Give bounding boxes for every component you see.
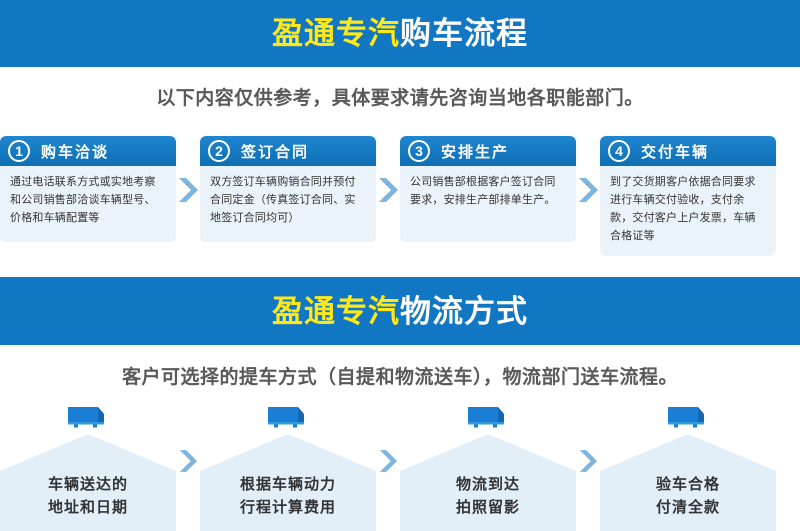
purchase-step-header-2: 2 签订合同 xyxy=(200,136,376,166)
chevron-right-icon xyxy=(378,449,398,473)
step-body-3: 公司销售部根据客户签订合同要求，安排生产部排单生产。 xyxy=(400,164,576,242)
truck-icon xyxy=(464,404,512,432)
brand-name-logistics: 盈通专汽 xyxy=(272,294,400,329)
logistics-step-3[interactable]: 物流到达 拍照留影 xyxy=(400,404,576,531)
logistics-arrow-3-4 xyxy=(576,404,600,531)
chevron-right-icon xyxy=(178,449,198,473)
chevron-right-icon xyxy=(177,177,199,203)
truck-icon xyxy=(664,404,712,432)
purchase-steps-row: 1 购车洽谈 通过电话联系方式或实地考察和公司销售部洽谈车辆型号、价格和车辆配置… xyxy=(0,136,800,244)
logistics-arrow-2-3 xyxy=(376,404,400,531)
logistics-banner: 盈通专汽物流方式 xyxy=(0,277,800,345)
truck-icon xyxy=(264,404,312,432)
step-body-1: 通过电话联系方式或实地考察和公司销售部洽谈车辆型号、价格和车辆配置等 xyxy=(0,164,176,242)
step-arrow-1-2 xyxy=(176,136,200,244)
logistics-label-1-line2: 地址和日期 xyxy=(0,497,176,520)
step-body-2: 双方签订车辆购销合同并预付合同定金（传真签订合同、实地签订合同均可） xyxy=(200,164,376,242)
chevron-right-icon xyxy=(578,449,598,473)
logistics-label-3-line2: 拍照留影 xyxy=(400,497,576,520)
purchase-step-card-1[interactable]: 1 购车洽谈 通过电话联系方式或实地考察和公司销售部洽谈车辆型号、价格和车辆配置… xyxy=(0,136,176,242)
purchase-step-header-4: 4 交付车辆 xyxy=(600,136,776,166)
purchase-step-header-3: 3 安排生产 xyxy=(400,136,576,166)
purchase-step-card-2[interactable]: 2 签订合同 双方签订车辆购销合同并预付合同定金（传真签订合同、实地签订合同均可… xyxy=(200,136,376,242)
purchase-flow-title: 盈通专汽购车流程 xyxy=(272,18,528,49)
purchase-flow-banner: 盈通专汽购车流程 xyxy=(0,0,800,67)
purchase-step-header-1: 1 购车洽谈 xyxy=(0,136,176,166)
logistics-arrow-1-2 xyxy=(176,404,200,531)
step-title-1: 购车洽谈 xyxy=(41,141,109,162)
logistics-label-3-line1: 物流到达 xyxy=(400,474,576,497)
logistics-label-2-line2: 行程计算费用 xyxy=(200,497,376,520)
logistics-label-2: 根据车辆动力 行程计算费用 xyxy=(200,474,376,519)
logistics-step-4[interactable]: 验车合格 付清全款 xyxy=(600,404,776,531)
step-number-badge-2: 2 xyxy=(208,140,230,162)
logistics-label-3: 物流到达 拍照留影 xyxy=(400,474,576,519)
logistics-label-2-line1: 根据车辆动力 xyxy=(200,474,376,497)
logistics-label-4: 验车合格 付清全款 xyxy=(600,474,776,519)
step-arrow-2-3 xyxy=(376,136,400,244)
chevron-right-icon xyxy=(377,177,399,203)
logistics-label-4-line1: 验车合格 xyxy=(600,474,776,497)
brand-name-purchase: 盈通专汽 xyxy=(272,16,400,51)
logistics-label-1: 车辆送达的 地址和日期 xyxy=(0,474,176,519)
step-title-2: 签订合同 xyxy=(241,141,309,162)
logistics-step-2[interactable]: 根据车辆动力 行程计算费用 xyxy=(200,404,376,531)
step-title-3: 安排生产 xyxy=(441,141,509,162)
logistics-title: 盈通专汽物流方式 xyxy=(272,296,528,327)
logistics-title-rest: 物流方式 xyxy=(400,294,528,329)
logistics-label-1-line1: 车辆送达的 xyxy=(0,474,176,497)
purchase-flow-subtitle: 以下内容仅供参考，具体要求请先咨询当地各职能部门。 xyxy=(0,83,800,110)
step-number-badge-3: 3 xyxy=(408,140,430,162)
step-arrow-3-4 xyxy=(576,136,600,244)
logistics-steps-row: 车辆送达的 地址和日期 根据车辆动力 行程计算费用 xyxy=(0,404,800,531)
purchase-step-card-4[interactable]: 4 交付车辆 到了交货期客户依据合同要求进行车辆交付验收，支付余款，交付客户上户… xyxy=(600,136,776,256)
step-number-badge-1: 1 xyxy=(8,140,30,162)
step-number-badge-4: 4 xyxy=(608,140,630,162)
logistics-label-4-line2: 付清全款 xyxy=(600,497,776,520)
purchase-flow-title-rest: 购车流程 xyxy=(400,16,528,51)
chevron-right-icon xyxy=(577,177,599,203)
logistics-step-1[interactable]: 车辆送达的 地址和日期 xyxy=(0,404,176,531)
logistics-subtitle: 客户可选择的提车方式（自提和物流送车），物流部门送车流程。 xyxy=(0,362,800,389)
step-body-4: 到了交货期客户依据合同要求进行车辆交付验收，支付余款，交付客户上户发票，车辆合格… xyxy=(600,164,776,256)
truck-icon xyxy=(64,404,112,432)
purchase-step-card-3[interactable]: 3 安排生产 公司销售部根据客户签订合同要求，安排生产部排单生产。 xyxy=(400,136,576,242)
step-title-4: 交付车辆 xyxy=(641,141,709,162)
